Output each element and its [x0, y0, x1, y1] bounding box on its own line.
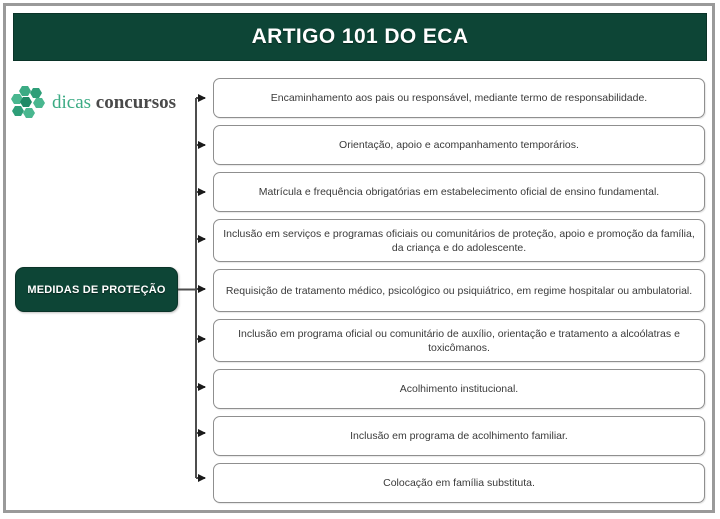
list-item: Colocação em família substituta.	[213, 463, 705, 503]
measure-list: Encaminhamento aos pais ou responsável, …	[213, 78, 705, 510]
root-node-label: MEDIDAS DE PROTEÇÃO	[27, 284, 165, 296]
list-item: Inclusão em programa de acolhimento fami…	[213, 416, 705, 456]
list-item-label: Inclusão em programa oficial ou comunitá…	[222, 327, 696, 355]
header-bar: ARTIGO 101 DO ECA	[13, 13, 707, 61]
page-title: ARTIGO 101 DO ECA	[252, 25, 469, 49]
molecule-cluster-icon	[10, 84, 48, 120]
list-item-label: Encaminhamento aos pais ou responsável, …	[271, 91, 647, 105]
list-item: Orientação, apoio e acompanhamento tempo…	[213, 125, 705, 165]
list-item-label: Matrícula e frequência obrigatórias em e…	[259, 185, 659, 199]
brand-word-primary: dicas	[52, 92, 91, 113]
list-item: Acolhimento institucional.	[213, 369, 705, 409]
list-item-label: Inclusão em serviços e programas oficiai…	[222, 227, 696, 255]
brand-logo: dicas concursos	[10, 82, 195, 122]
list-item-label: Requisição de tratamento médico, psicoló…	[226, 284, 692, 298]
list-item: Matrícula e frequência obrigatórias em e…	[213, 172, 705, 212]
list-item-label: Colocação em família substituta.	[383, 476, 535, 490]
diagram-canvas: ARTIGO 101 DO ECA dicas concursos MEDIDA…	[0, 0, 720, 519]
root-node-medidas-de-protecao: MEDIDAS DE PROTEÇÃO	[15, 267, 178, 312]
list-item-label: Orientação, apoio e acompanhamento tempo…	[339, 138, 579, 152]
list-item-label: Acolhimento institucional.	[400, 382, 518, 396]
list-item: Requisição de tratamento médico, psicoló…	[213, 269, 705, 312]
list-item: Inclusão em programa oficial ou comunitá…	[213, 319, 705, 362]
list-item-label: Inclusão em programa de acolhimento fami…	[350, 429, 568, 443]
brand-word-secondary: concursos	[96, 92, 176, 113]
list-item: Inclusão em serviços e programas oficiai…	[213, 219, 705, 262]
brand-text: dicas concursos	[52, 93, 176, 112]
list-item: Encaminhamento aos pais ou responsável, …	[213, 78, 705, 118]
